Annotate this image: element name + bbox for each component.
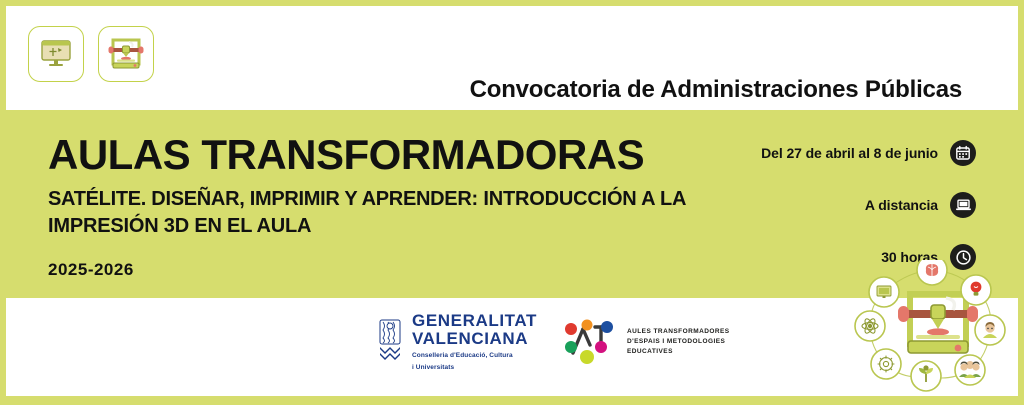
page-title: AULAS TRANSFORMADORAS (48, 134, 644, 176)
info-row-dates: Del 27 de abril al 8 de junio (761, 140, 976, 166)
page-subtitle: SATÉLITE. DISEÑAR, IMPRIMIR Y APRENDER: … (48, 186, 748, 240)
course-info-list: Del 27 de abril al 8 de junio (761, 140, 976, 270)
aules-transformadores-logo: AULES TRANSFORMADORES D'ESPAIS I METODOL… (561, 315, 730, 370)
gva-department-line-2: i Universitats (412, 363, 537, 372)
header-title: Convocatoria de Administraciones Pública… (470, 76, 962, 104)
top-panel: Convocatoria de Administraciones Pública… (6, 6, 1018, 110)
clock-icon (950, 244, 976, 270)
info-row-duration: 30 horas (881, 244, 976, 270)
at-line-2: D'ESPAIS I METODOLOGIES (627, 337, 730, 347)
chip-3d-printer (98, 26, 154, 82)
generalitat-valenciana-logo: GENERALITAT VALENCIANA Conselleria d'Edu… (376, 312, 537, 373)
academic-years: 2025-2026 (48, 260, 134, 280)
info-row-modality: A distancia (865, 192, 976, 218)
info-label-modality: A distancia (865, 197, 938, 213)
at-dots-logo-icon (561, 315, 619, 370)
footer-panel: GENERALITAT VALENCIANA Conselleria d'Edu… (6, 298, 1018, 396)
at-line-3: EDUCATIVES (627, 347, 730, 357)
gva-line-2: VALENCIANA (412, 330, 537, 348)
at-line-1: AULES TRANSFORMADORES (627, 327, 730, 337)
green-band: AULAS TRANSFORMADORAS SATÉLITE. DISEÑAR,… (6, 110, 1018, 298)
3d-printer-icon (108, 37, 144, 71)
info-label-duration: 30 horas (881, 249, 938, 265)
gva-wordmark: GENERALITAT VALENCIANA Conselleria d'Edu… (412, 312, 537, 373)
at-wordmark: AULES TRANSFORMADORES D'ESPAIS I METODOL… (627, 327, 730, 358)
icon-chip-group (28, 26, 154, 82)
poster-root: Convocatoria de Administraciones Pública… (0, 0, 1024, 402)
computer-design-icon (39, 39, 73, 69)
gva-line-1: GENERALITAT (412, 312, 537, 330)
chip-computer-design (28, 26, 84, 82)
subtitle-lead: SATÉLITE. DISEÑAR, IMPRIMIR Y APRENDER: (48, 188, 478, 210)
laptop-icon (950, 192, 976, 218)
gva-department-line-1: Conselleria d'Educació, Cultura (412, 351, 537, 360)
info-label-dates: Del 27 de abril al 8 de junio (761, 145, 938, 161)
calendar-icon (950, 140, 976, 166)
gva-shield-icon (376, 318, 404, 367)
footer-logos: GENERALITAT VALENCIANA Conselleria d'Edu… (376, 312, 730, 373)
